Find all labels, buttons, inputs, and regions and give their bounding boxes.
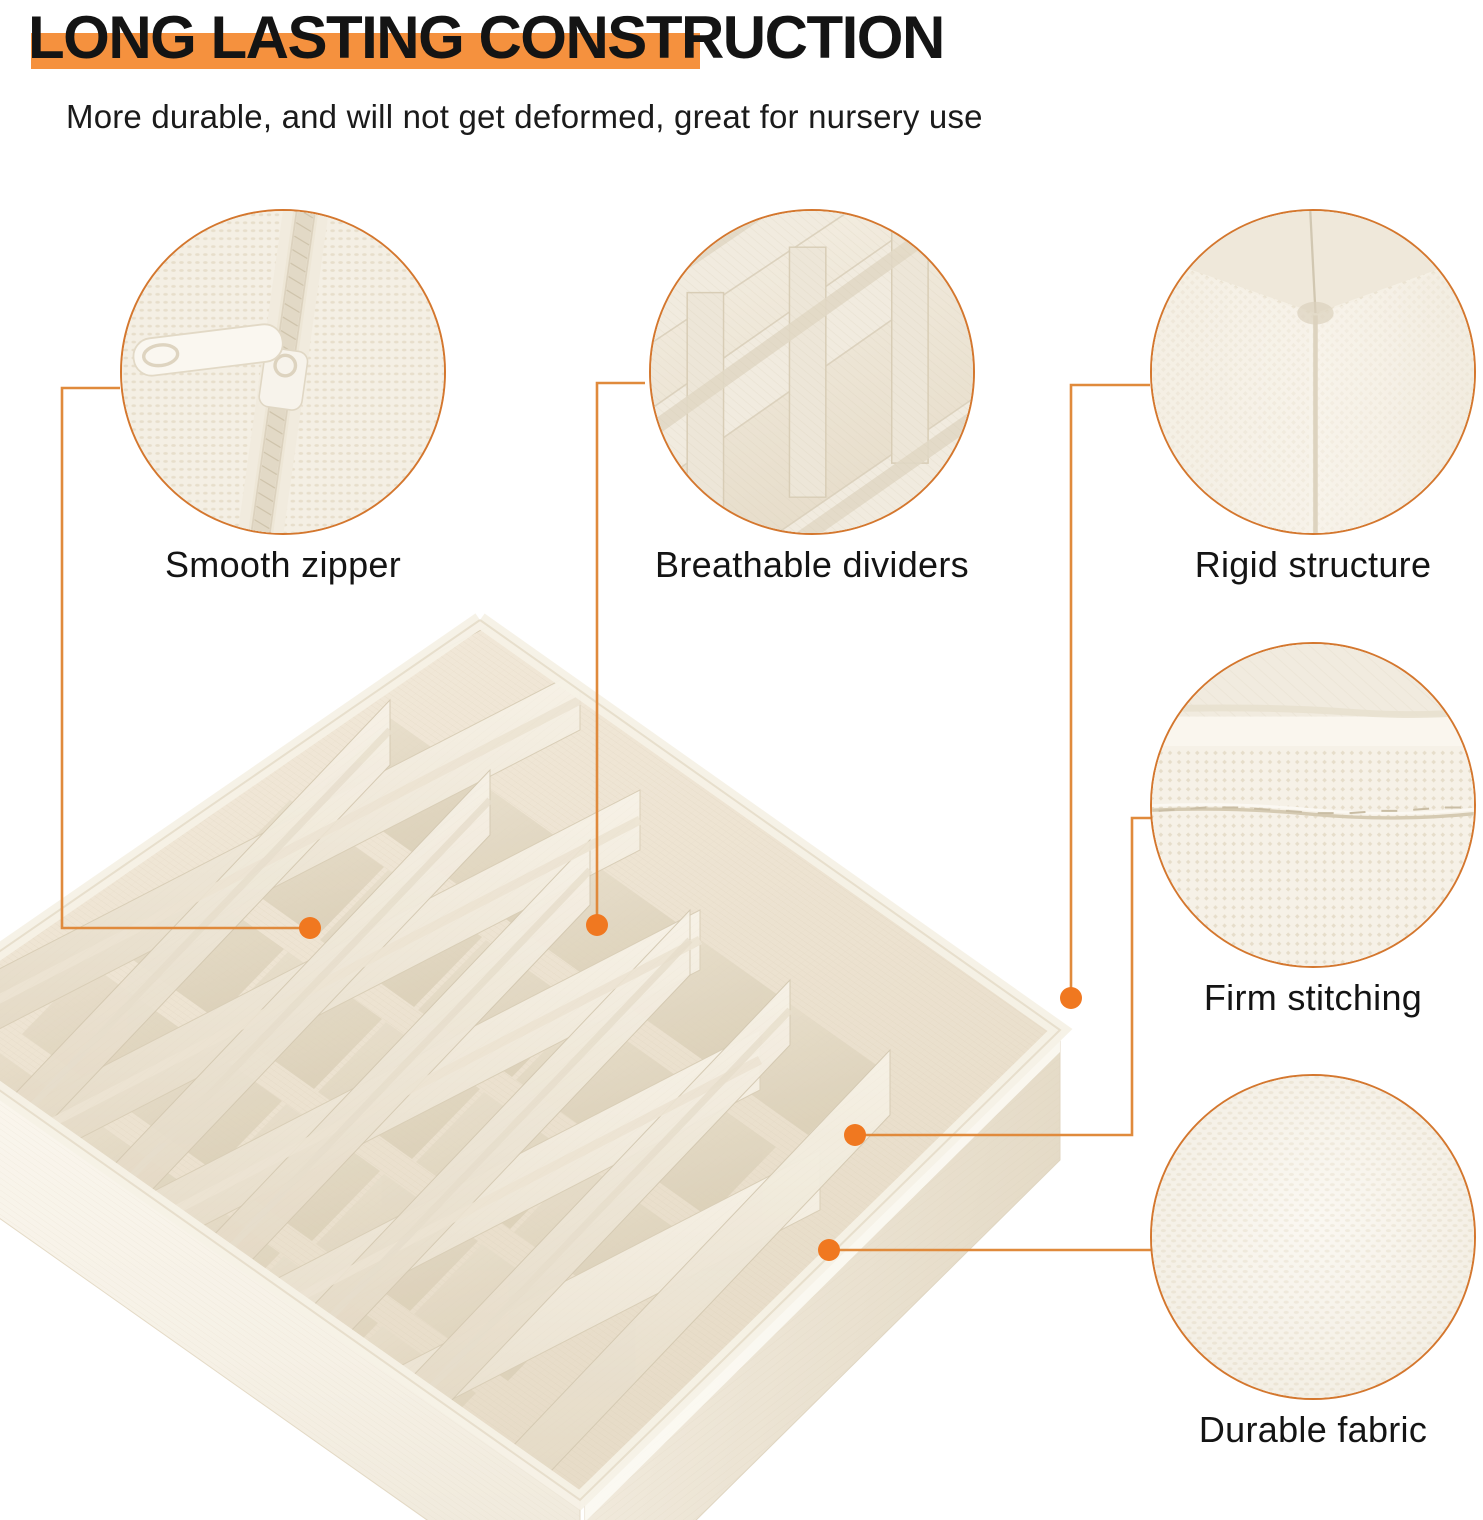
stitch-closeup-image — [1150, 642, 1476, 968]
callout-label-breathable-dividers: Breathable dividers — [529, 544, 1095, 586]
page-title: LONG LASTING CONSTRUCTION — [28, 2, 944, 74]
corner-closeup-image — [1150, 209, 1476, 535]
wire-rigid-structure — [1071, 385, 1150, 992]
callout-label-rigid-structure: Rigid structure — [1030, 544, 1483, 586]
product-image — [0, 600, 1080, 1520]
dividers-closeup-image — [649, 209, 975, 535]
page-subtitle: More durable, and will not get deformed,… — [66, 98, 983, 136]
fabric-closeup-image — [1150, 1074, 1476, 1400]
callout-label-durable-fabric: Durable fabric — [1030, 1409, 1483, 1451]
callout-label-smooth-zipper: Smooth zipper — [0, 544, 566, 586]
callout-label-firm-stitching: Firm stitching — [1030, 977, 1483, 1019]
zipper-closeup-image — [120, 209, 446, 535]
infographic-canvas: LONG LASTING CONSTRUCTION More durable, … — [0, 0, 1483, 1500]
